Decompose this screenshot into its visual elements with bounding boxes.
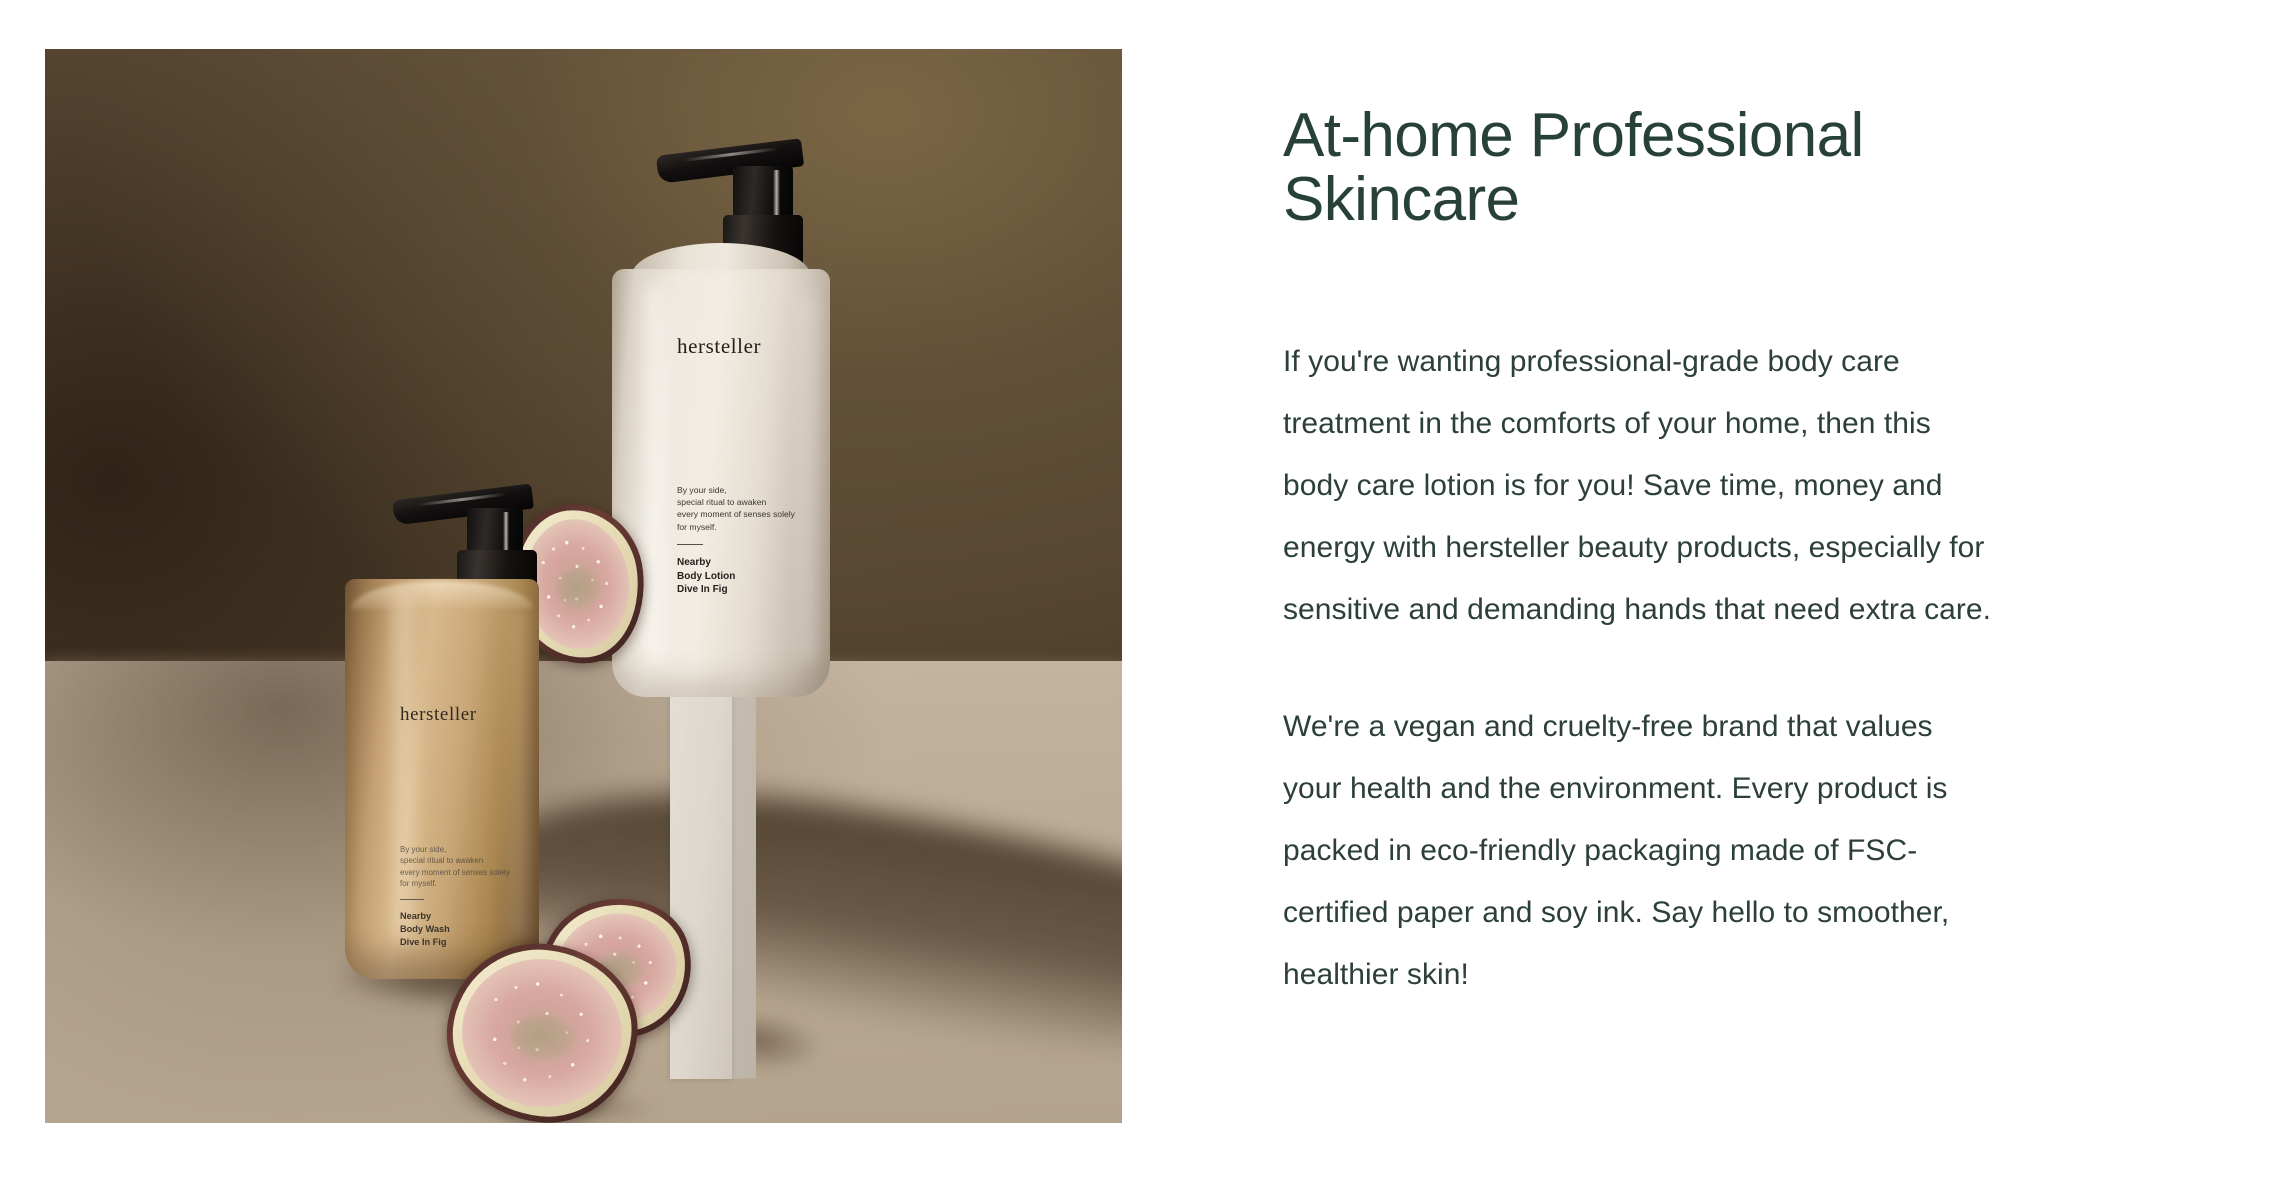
wash-label-tagline: By your side, special ritual to awaken e… (400, 844, 540, 889)
body-paragraph-2: We're a vegan and cruelty-free brand tha… (1283, 696, 1995, 1006)
body-paragraph-1: If you're wanting professional-grade bod… (1283, 331, 1995, 641)
wash-brand-name: hersteller (400, 704, 540, 726)
pedestal-side-face (732, 696, 756, 1079)
lotion-brand-name: hersteller (677, 334, 827, 359)
page-title: At-home Professional Skincare (1283, 104, 1983, 233)
fig-slice-front (438, 935, 646, 1123)
pump-stem-highlight (773, 170, 780, 220)
pump-neck (733, 166, 793, 222)
pump-neck (467, 508, 523, 556)
product-photo: hersteller By your side, special ritual … (45, 49, 1122, 1123)
lotion-label-divider (677, 544, 703, 545)
lotion-bottle-label: hersteller By your side, special ritual … (677, 334, 827, 597)
wash-bottle-label: hersteller By your side, special ritual … (400, 704, 540, 949)
product-feature-section: hersteller By your side, special ritual … (0, 0, 2270, 1190)
lotion-bottle-highlight-left (646, 285, 672, 665)
copy-column: At-home Professional Skincare If you're … (1283, 104, 2003, 1006)
wash-label-divider (400, 899, 424, 900)
lotion-label-product-name: Nearby Body Lotion Dive In Fig (677, 556, 827, 597)
lotion-label-tagline: By your side, special ritual to awaken e… (677, 484, 827, 533)
